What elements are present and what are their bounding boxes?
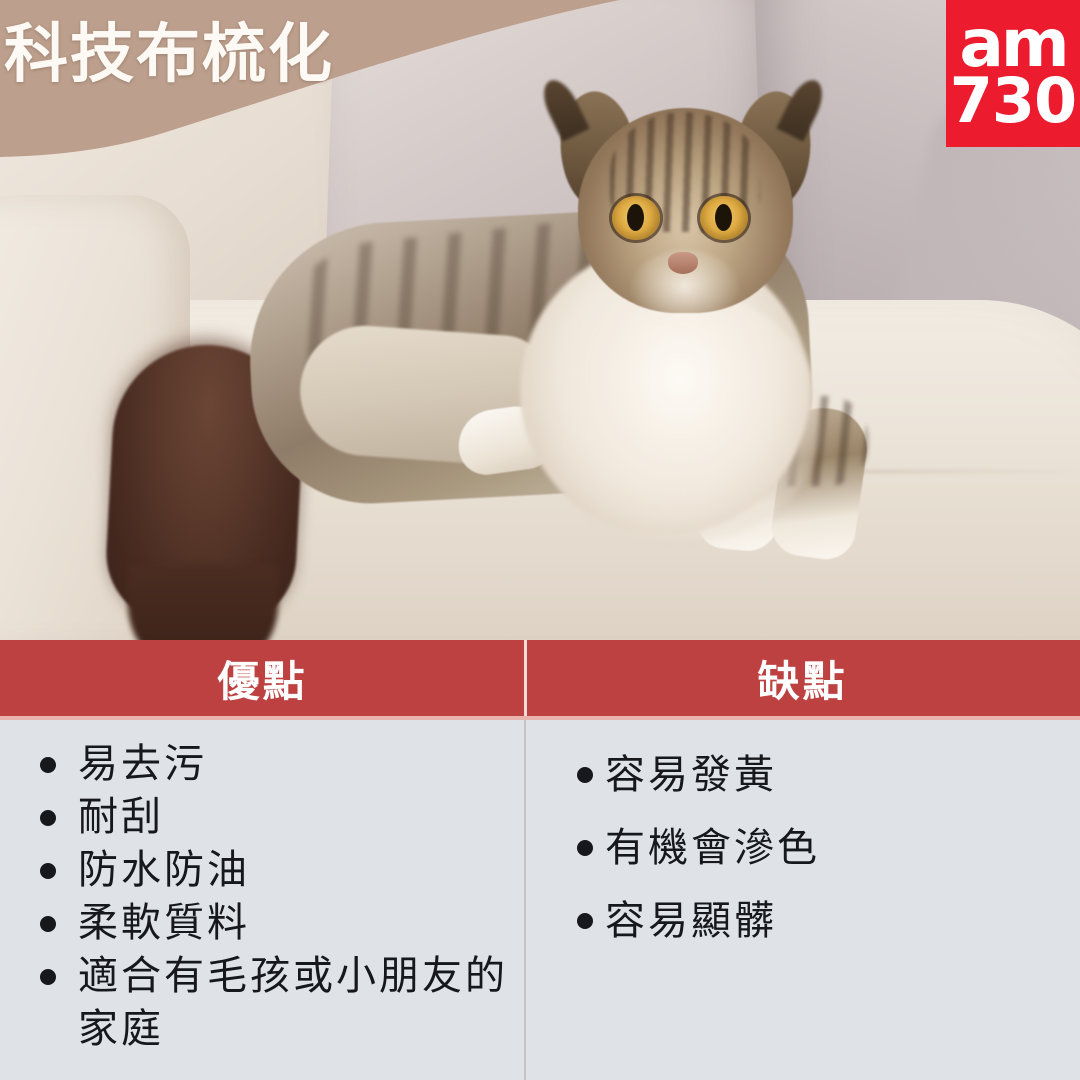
header-column-divider bbox=[524, 640, 527, 716]
list-item: 柔軟質料 bbox=[0, 897, 525, 950]
cons-list: 容易發黃 有機會滲色 容易顯髒 bbox=[525, 750, 1080, 946]
bullet-icon bbox=[40, 916, 56, 932]
bullet-icon bbox=[40, 969, 56, 985]
list-item: 易去污 bbox=[0, 738, 525, 791]
list-item: 有機會滲色 bbox=[525, 823, 1080, 873]
cat-tail-tip bbox=[128, 565, 278, 640]
logo-text-am: am bbox=[959, 18, 1066, 69]
list-item: 容易發黃 bbox=[525, 750, 1080, 800]
cat-pupil-left bbox=[627, 204, 644, 231]
list-item: 容易顯髒 bbox=[525, 896, 1080, 946]
cat-pupil-right bbox=[715, 204, 732, 231]
list-item: 耐刮 bbox=[0, 791, 525, 844]
list-item: 適合有毛孩或小朋友的家庭 bbox=[0, 950, 525, 1056]
list-item-label: 適合有毛孩或小朋友的家庭 bbox=[78, 954, 508, 1051]
am730-logo[interactable]: am 730 bbox=[946, 0, 1080, 147]
cat-eye-left bbox=[612, 196, 660, 240]
title-banner: 科技布梳化 bbox=[0, 0, 1080, 170]
bullet-icon bbox=[577, 767, 593, 783]
list-item-label: 容易發黃 bbox=[605, 753, 777, 797]
table-header-pros: 優點 bbox=[0, 640, 525, 716]
list-item: 防水防油 bbox=[0, 844, 525, 897]
infographic-page: 科技布梳化 am 730 優點 缺點 易去污 耐刮 防水防油 柔軟質料 適合有毛… bbox=[0, 0, 1080, 1080]
table-header-row: 優點 缺點 bbox=[0, 640, 1080, 720]
bullet-icon bbox=[40, 810, 56, 826]
bullet-icon bbox=[40, 757, 56, 773]
list-item-label: 柔軟質料 bbox=[78, 901, 250, 945]
pros-column: 易去污 耐刮 防水防油 柔軟質料 適合有毛孩或小朋友的家庭 bbox=[0, 720, 525, 1080]
page-title: 科技布梳化 bbox=[0, 6, 644, 92]
bullet-icon bbox=[40, 863, 56, 879]
list-item-label: 容易顯髒 bbox=[605, 899, 777, 943]
list-item-label: 有機會滲色 bbox=[605, 826, 820, 870]
logo-text-730: 730 bbox=[950, 72, 1076, 129]
cat-eye-right bbox=[700, 196, 748, 240]
table-body: 易去污 耐刮 防水防油 柔軟質料 適合有毛孩或小朋友的家庭 容易發黃 有機會滲色… bbox=[0, 720, 1080, 1080]
hero-photo: 科技布梳化 am 730 bbox=[0, 0, 1080, 640]
cat-nose bbox=[668, 252, 698, 274]
list-item-label: 易去污 bbox=[78, 742, 207, 786]
list-item-label: 耐刮 bbox=[78, 795, 164, 839]
list-item-label: 防水防油 bbox=[78, 848, 250, 892]
cons-column: 容易發黃 有機會滲色 容易顯髒 bbox=[525, 720, 1080, 1080]
bullet-icon bbox=[577, 913, 593, 929]
pros-list: 易去污 耐刮 防水防油 柔軟質料 適合有毛孩或小朋友的家庭 bbox=[0, 738, 525, 1056]
table-header-cons: 缺點 bbox=[525, 640, 1080, 716]
bullet-icon bbox=[577, 840, 593, 856]
pros-cons-table: 優點 缺點 易去污 耐刮 防水防油 柔軟質料 適合有毛孩或小朋友的家庭 容易發黃… bbox=[0, 640, 1080, 1080]
